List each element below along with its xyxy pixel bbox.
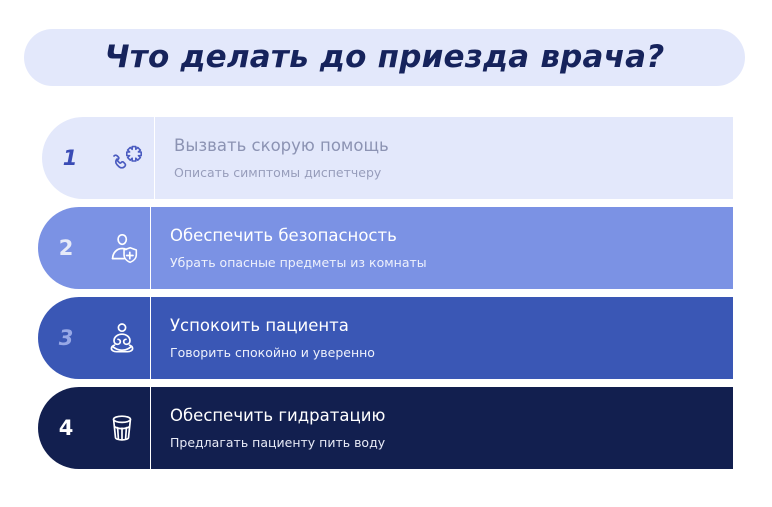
step-number: 1 (42, 148, 98, 169)
step-content: Обеспечить гидратацию Предлагать пациент… (151, 387, 733, 469)
step-title: Обеспечить безопасность (170, 226, 721, 247)
step-subtitle: Говорить спокойно и уверенно (170, 345, 721, 360)
step-subtitle: Убрать опасные предметы из комнаты (170, 255, 721, 270)
step-number: 3 (38, 328, 94, 349)
step-title: Успокоить пациента (170, 316, 721, 337)
step-row[interactable]: 1 Вызвать скорую помощь Описать симптомы… (0, 117, 772, 199)
step-marker-group: 1 (42, 117, 154, 199)
meditation-icon (94, 318, 150, 358)
page-title-banner: Что делать до приезда врача? (24, 29, 745, 86)
water-glass-icon (94, 408, 150, 448)
step-row-surface: 1 Вызвать скорую помощь Описать симптомы… (42, 117, 733, 199)
step-row[interactable]: 2 Обеспечить б (0, 207, 772, 289)
step-subtitle: Предлагать пациенту пить воду (170, 435, 721, 450)
step-marker-group: 3 (38, 297, 150, 379)
step-content: Успокоить пациента Говорить спокойно и у… (151, 297, 733, 379)
step-title: Вызвать скорую помощь (174, 136, 721, 157)
step-subtitle: Описать симптомы диспетчеру (174, 165, 721, 180)
step-row[interactable]: 4 (0, 387, 772, 469)
step-row[interactable]: 3 Успокоить пациента (0, 297, 772, 379)
step-row-surface: 2 Обеспечить б (38, 207, 733, 289)
emergency-call-icon (98, 138, 154, 178)
step-marker-group: 2 (38, 207, 150, 289)
step-title: Обеспечить гидратацию (170, 406, 721, 427)
steps-list: 1 Вызвать скорую помощь Описать симптомы… (0, 117, 772, 469)
step-number: 4 (38, 418, 94, 439)
step-row-surface: 4 (38, 387, 733, 469)
step-marker-group: 4 (38, 387, 150, 469)
step-number: 2 (38, 238, 94, 259)
person-shield-plus-icon (94, 228, 150, 268)
step-content: Вызвать скорую помощь Описать симптомы д… (155, 117, 733, 199)
step-content: Обеспечить безопасность Убрать опасные п… (151, 207, 733, 289)
step-row-surface: 3 Успокоить пациента (38, 297, 733, 379)
page-title: Что делать до приезда врача? (105, 42, 665, 73)
